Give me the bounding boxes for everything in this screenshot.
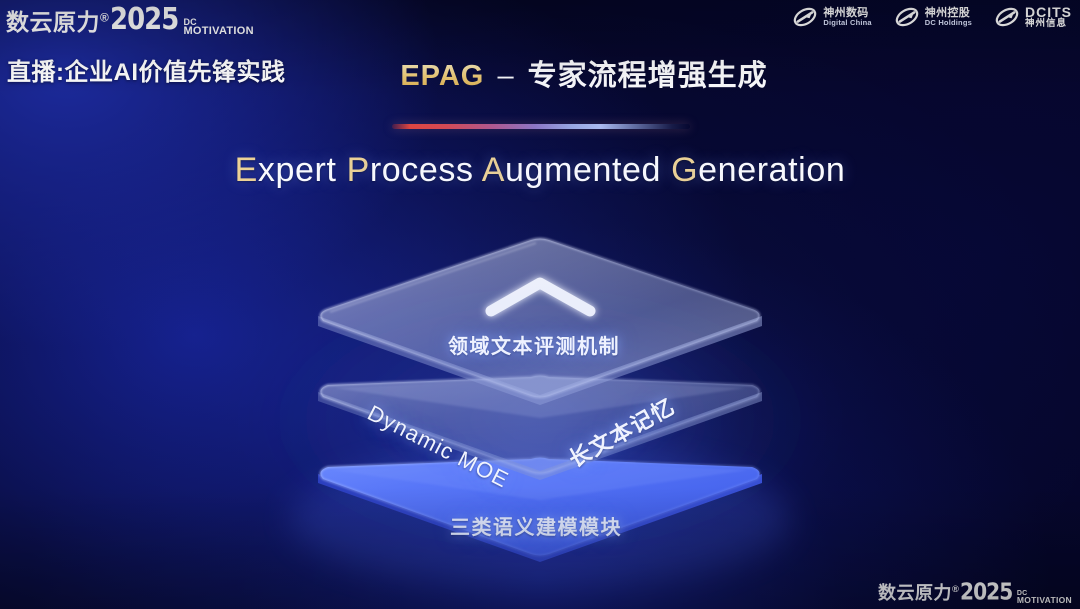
- brand-logo-header: 数云原力® 2025 DC MOTIVATION: [6, 3, 254, 37]
- page-title: EPAG – 专家流程增强生成: [0, 52, 1080, 94]
- subtitle-word-initial: A: [482, 151, 505, 189]
- brand-logo-year: 2025: [110, 2, 178, 37]
- slide-background: 领域文本评测机制 Dynamic MOE 长文本记忆 三类语义建模模块 数云原力…: [0, 0, 1080, 609]
- subtitle-word-rest: ugmented: [505, 151, 661, 189]
- stack-label-middle-right: 长文本记忆: [562, 389, 680, 474]
- page-title-zh: 专家流程增强生成: [528, 60, 768, 92]
- brand-logo-cn-text: 数云原力®: [878, 579, 959, 605]
- brand-logo-cn-text: 数云原力®: [6, 3, 109, 37]
- partner-logo-dcits: DCITS 神州信息: [994, 4, 1072, 30]
- page-title-abbr: EPAG: [400, 60, 484, 92]
- partner-name-cn: 神州信息: [1025, 19, 1072, 29]
- stack-label-top: 领域文本评测机制: [448, 330, 620, 359]
- swoosh-icon: [994, 4, 1020, 30]
- subtitle-word: Augmented: [482, 151, 661, 189]
- registered-trademark-icon: ®: [952, 584, 959, 594]
- stack-layer-top: [318, 239, 762, 406]
- subtitle-word-initial: E: [235, 151, 258, 189]
- brand-logo-watermark: 数云原力® 2025 DC MOTIVATION: [878, 579, 1072, 605]
- stack-label-middle-left: Dynamic MOE: [363, 400, 513, 494]
- stack-label-bottom: 三类语义建模模块: [450, 511, 622, 540]
- gradient-divider: [392, 124, 690, 129]
- brand-logo-motivation: MOTIVATION: [1017, 597, 1072, 605]
- partner-logo-digital-china: 神州数码 Digital China: [792, 4, 871, 30]
- subtitle-word: Expert: [235, 151, 337, 189]
- subtitle-word-initial: G: [671, 151, 698, 189]
- subtitle-word-rest: xpert: [258, 151, 337, 189]
- partner-name-en: DC Holdings: [925, 19, 972, 27]
- brand-logo-dc-motivation: DC MOTIVATION: [183, 18, 253, 36]
- chevron-up-icon: [491, 283, 590, 311]
- partner-label: DCITS 神州信息: [1025, 5, 1072, 29]
- partner-name-en: Digital China: [823, 19, 871, 27]
- swoosh-icon: [894, 4, 920, 30]
- brand-logo-year: 2025: [960, 578, 1012, 605]
- subtitle-word: Generation: [671, 151, 845, 189]
- subtitle-word: Process: [347, 151, 474, 189]
- stack-layer-bottom: [318, 458, 762, 563]
- registered-trademark-icon: ®: [100, 10, 109, 24]
- partner-label: 神州数码 Digital China: [823, 8, 871, 27]
- page-title-dash: –: [493, 60, 518, 92]
- subtitle-word-rest: rocess: [370, 151, 474, 189]
- partner-logo-dc-holdings: 神州控股 DC Holdings: [894, 4, 972, 30]
- partner-label: 神州控股 DC Holdings: [925, 8, 972, 27]
- subtitle-word-initial: P: [347, 151, 370, 189]
- subtitle-word-rest: eneration: [698, 151, 845, 189]
- brand-logo-motivation: MOTIVATION: [183, 26, 253, 36]
- subtitle-acronym-expansion: Expert Process Augmented Generation: [0, 151, 1080, 190]
- brand-logo-dc-motivation: DC MOTIVATION: [1017, 591, 1072, 605]
- swoosh-icon: [792, 4, 818, 30]
- partner-logo-group: 神州数码 Digital China 神州控股 DC Holdings: [792, 4, 1072, 30]
